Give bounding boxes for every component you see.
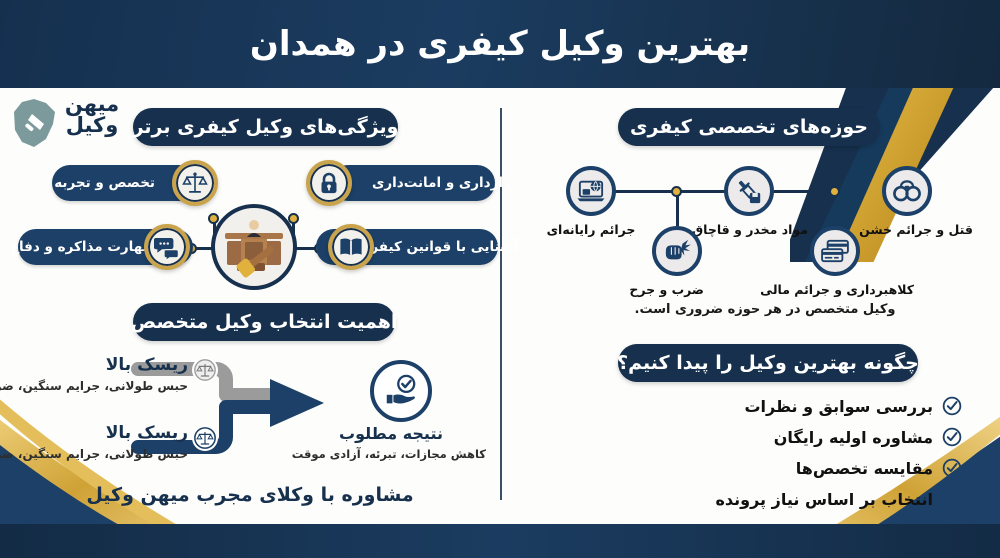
fist-impact-icon — [662, 238, 692, 264]
chat-badge-2 — [144, 224, 190, 270]
howto-item-3[interactable]: انتخاب بر اساس نیاز پرونده — [715, 489, 962, 509]
domain-dot-left — [671, 186, 682, 197]
howto-label-0: بررسی سوابق و نظرات — [744, 397, 933, 416]
heading-importance: اهمیت انتخاب وکیل متخصص — [133, 303, 395, 341]
heading-howto: چگونه بهترین وکیل را پیدا کنیم؟ — [618, 344, 918, 382]
courtroom-scene — [211, 204, 297, 290]
scales-badge-0 — [172, 160, 218, 206]
risk-title-0: ریسک بالا — [60, 355, 188, 375]
laptop-globe-icon — [577, 178, 605, 204]
check-circle-icon — [942, 458, 962, 478]
header-banner: بهترین وکیل کیفری در همدان — [0, 0, 1000, 88]
page-title: بهترین وکیل کیفری در همدان — [0, 24, 1000, 64]
heading-domains: حوزه‌های تخصصی کیفری — [618, 108, 880, 146]
risk-detail-0: حبس طولانی، جرایم سنگین، ضرر مالی — [22, 379, 188, 393]
check-circle-icon — [942, 427, 962, 447]
scales-icon — [194, 427, 216, 449]
scales-icon — [194, 359, 216, 381]
lock-badge-1 — [306, 160, 352, 206]
handcuffs-icon — [893, 179, 921, 203]
domain-label-assault: ضرب و جرح — [632, 282, 704, 297]
risk-icon-1 — [192, 425, 218, 451]
syringe-icon — [735, 177, 763, 205]
check-circle-icon — [942, 489, 962, 509]
howto-item-0[interactable]: بررسی سوابق و نظرات — [744, 396, 962, 416]
outcome-icon-circle — [370, 360, 432, 422]
domain-label-violent-crimes: قتل و جرائم خشن — [856, 222, 976, 237]
feature-chip-1[interactable]: رازداری و امانت‌داری — [330, 165, 495, 201]
courtroom-gavel-icon — [219, 215, 289, 279]
heading-features: ویژگی‌های وکیل کیفری برتر — [133, 108, 398, 146]
footer-bar — [0, 524, 1000, 558]
domain-label-fraud: کلاهبرداری و جرائم مالی — [768, 282, 914, 297]
feature-label-1: رازداری و امانت‌داری — [372, 175, 511, 191]
risk-title-1: ریسک بالا — [60, 423, 188, 443]
domain-node-drugs[interactable] — [724, 166, 774, 216]
outcome-detail: کاهش مجازات، تبرئه، آزادی موقت — [296, 447, 486, 461]
domain-dot-right — [829, 186, 840, 197]
scales-icon — [182, 170, 208, 196]
domain-node-fraud[interactable] — [810, 226, 860, 276]
brand-line-2: وکیل — [53, 115, 131, 136]
howto-label-2: مقایسه تخصص‌ها — [796, 459, 933, 478]
feature-label-0: تخصص و تجربه — [54, 175, 155, 191]
book-badge-3 — [328, 224, 374, 270]
infographic-canvas: بهترین وکیل کیفری در همدان — [0, 0, 1000, 558]
risk-detail-1: حبس طولانی، جرایم سنگین، ضرر مالی — [22, 447, 188, 461]
domain-node-violent-crimes[interactable] — [882, 166, 932, 216]
feature-label-3: آشنایی با قوانین کیفری — [358, 239, 518, 255]
domain-label-computer-crimes: جرائم رایانه‌ای — [536, 222, 646, 237]
chat-bubbles-icon — [154, 235, 180, 259]
howto-label-3: انتخاب بر اساس نیاز پرونده — [715, 490, 933, 509]
domain-node-assault[interactable] — [652, 226, 702, 276]
left-cta-text: مشاوره با وکلای مجرب میهن وکیل — [70, 484, 430, 506]
check-circle-icon — [942, 396, 962, 416]
risk-icon-0 — [192, 357, 218, 383]
outcome-title: نتیجه مطلوب — [326, 424, 456, 443]
credit-cards-icon — [820, 239, 850, 263]
hand-check-icon — [382, 372, 420, 410]
howto-item-1[interactable]: مشاوره اولیه رایگان — [774, 427, 962, 447]
open-book-icon — [338, 236, 364, 258]
howto-item-2[interactable]: مقایسه تخصص‌ها — [796, 458, 962, 478]
domains-note: وکیل متخصص در هر حوزه ضروری است. — [620, 302, 910, 317]
brand-line-1: میهن — [53, 94, 131, 115]
lock-icon — [317, 171, 341, 195]
feature-label-2: مهارت مذاکره و دفاع — [10, 239, 151, 255]
domain-label-drugs: مواد مخدر و قاچاق — [692, 222, 808, 237]
domain-node-computer-crimes[interactable] — [566, 166, 616, 216]
brand-logo: میهن وکیل — [8, 92, 133, 154]
howto-label-1: مشاوره اولیه رایگان — [774, 428, 933, 447]
brand-logo-text: میهن وکیل — [53, 94, 131, 135]
column-divider — [500, 108, 502, 500]
